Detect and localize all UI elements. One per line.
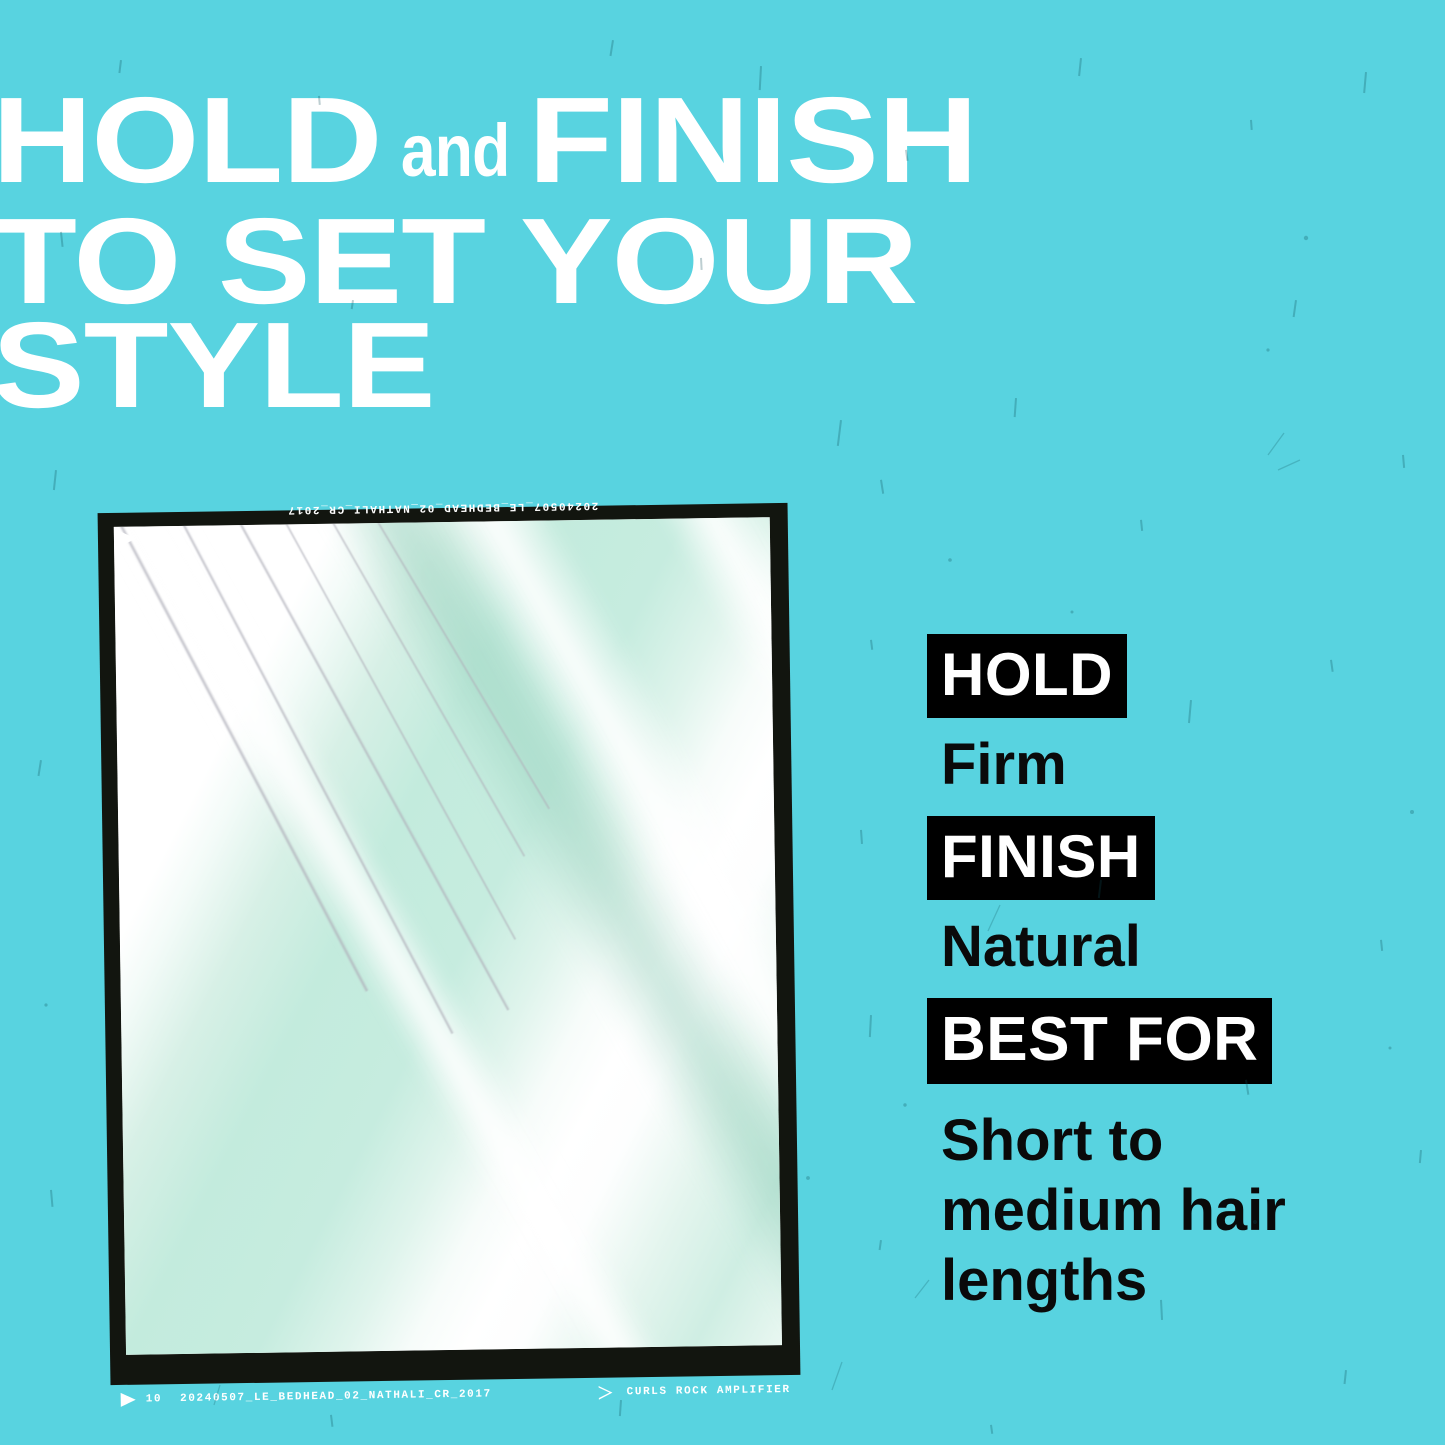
- filmstrip-frame-number: 10: [146, 1393, 163, 1405]
- filmstrip-filename: 20240507_LE_BEDHEAD_02_NATHALI_CR_2017: [180, 1388, 492, 1405]
- play-outline-triangle-icon: [599, 1386, 613, 1400]
- spec-row-hold: HOLD Firm: [927, 634, 1357, 796]
- headline-hold: HOLD: [0, 72, 381, 208]
- corner-triangle-icon: [117, 530, 136, 548]
- spec-value-hold: Firm: [941, 734, 1357, 796]
- filmstrip-top-label: 20240507_LE_BEDHEAD_02_NATHALI_CR_2017: [287, 499, 599, 516]
- headline-and: and: [401, 99, 509, 203]
- spec-row-bestfor: BEST FOR Short to medium hair lengths: [927, 998, 1357, 1316]
- spec-label-hold: HOLD: [927, 634, 1127, 718]
- headline-line-1: HOLDandFINISH: [0, 88, 1445, 209]
- spec-value-bestfor: Short to medium hair lengths: [941, 1106, 1341, 1316]
- headline-line-3: STYLE: [0, 313, 1445, 417]
- filmstrip-product: CURLS ROCK AMPLIFIER: [599, 1383, 791, 1400]
- product-photo-frame: 20240507_LE_BEDHEAD_02_NATHALI_CR_2017 1…: [98, 503, 801, 1385]
- spec-label-finish: FINISH: [927, 816, 1155, 900]
- filmstrip-bottom: 10 20240507_LE_BEDHEAD_02_NATHALI_CR_201…: [111, 1377, 801, 1413]
- filmstrip-product-label: CURLS ROCK AMPLIFIER: [627, 1384, 791, 1398]
- headline-finish: FINISH: [528, 72, 977, 208]
- spec-label-bestfor: BEST FOR: [927, 998, 1272, 1084]
- headline-block: HOLDandFINISH TO SET YOUR STYLE: [0, 88, 1322, 417]
- product-spec-list: HOLD Firm FINISH Natural BEST FOR Short …: [927, 634, 1357, 1336]
- spec-row-finish: FINISH Natural: [927, 816, 1357, 978]
- play-triangle-icon: [121, 1393, 136, 1407]
- photo-image: [114, 517, 782, 1355]
- spec-value-finish: Natural: [941, 916, 1357, 978]
